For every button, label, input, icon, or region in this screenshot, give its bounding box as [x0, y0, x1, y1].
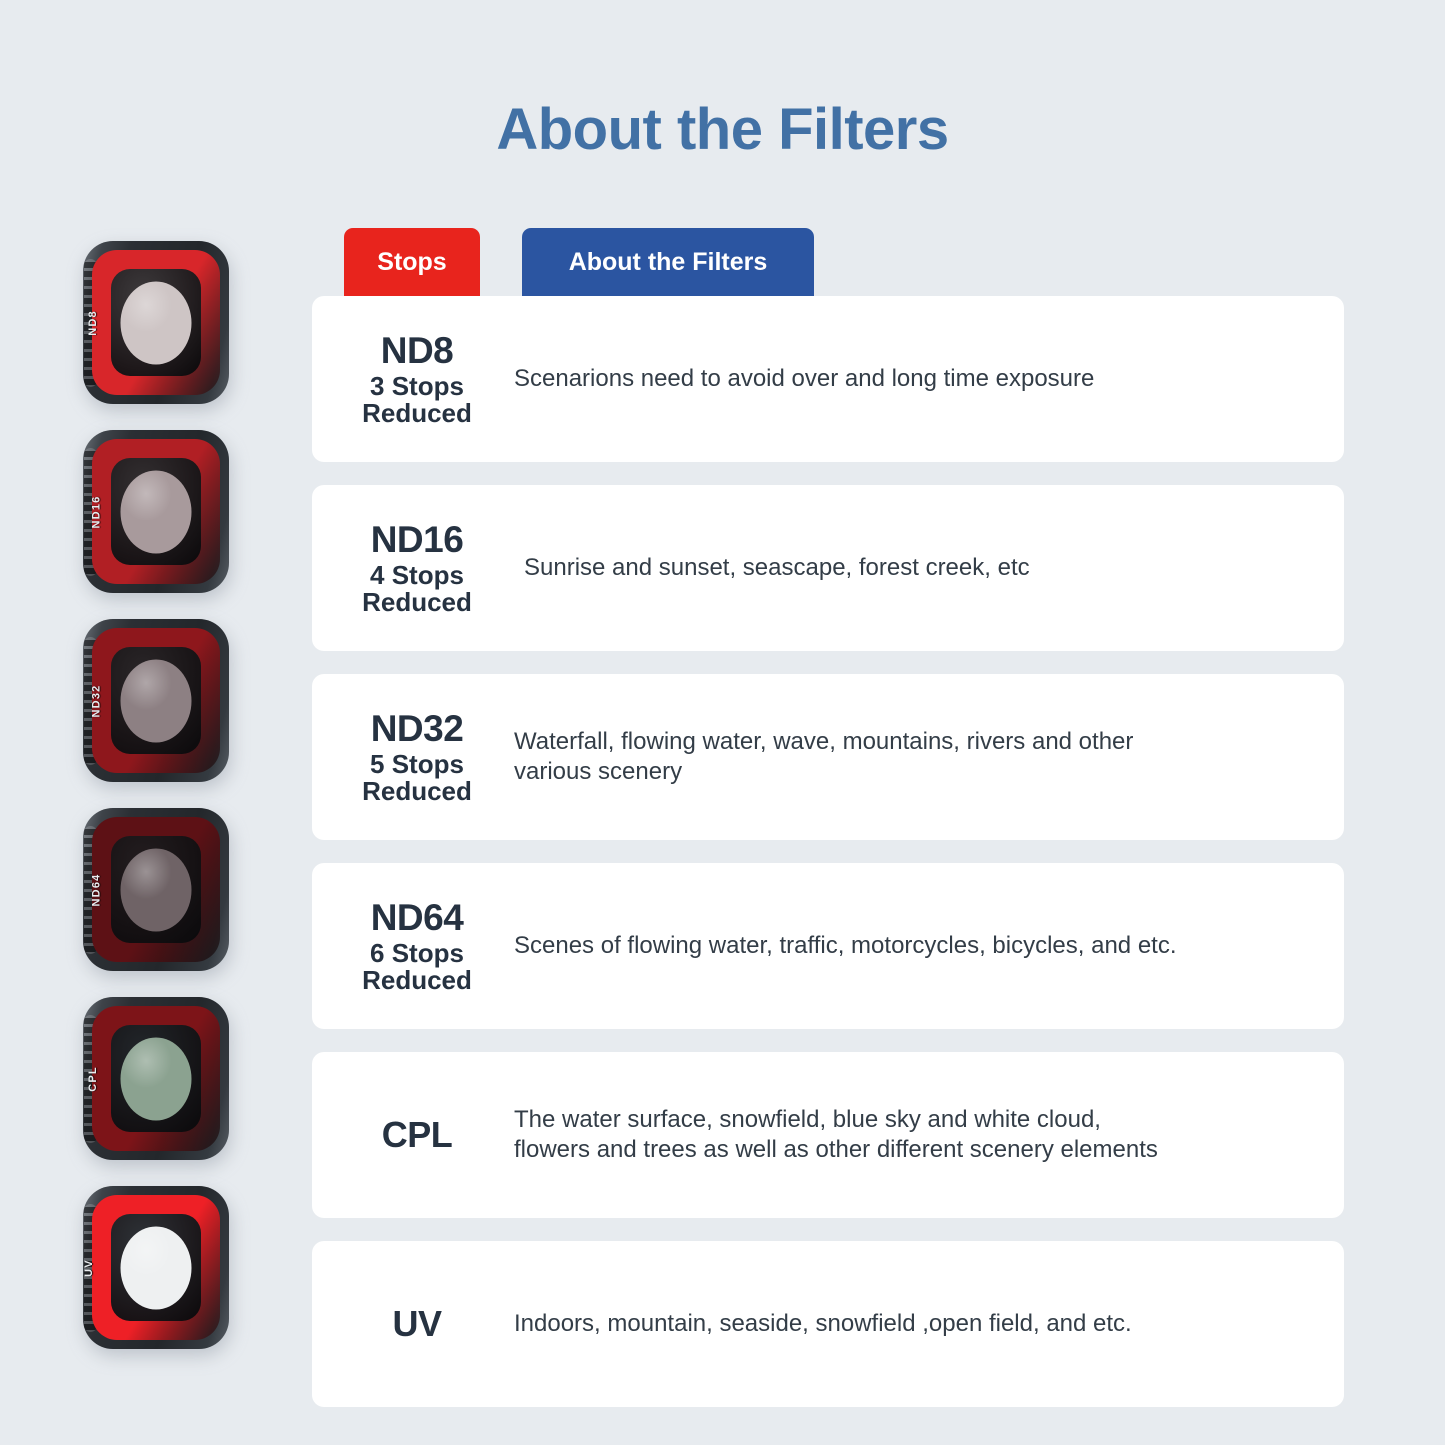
stop-name: UV	[320, 1305, 514, 1343]
filter-product-image: ND16	[83, 430, 229, 593]
stop-cell: UV	[312, 1305, 514, 1343]
stop-reduction-label: 3 Stops Reduced	[320, 373, 514, 426]
filter-description: The water surface, snowfield, blue sky a…	[514, 1105, 1344, 1166]
filter-side-label: UV	[83, 1259, 95, 1277]
filter-glass-element	[121, 659, 192, 742]
stop-name: ND8	[320, 332, 514, 371]
filter-image-slot: ND8	[0, 228, 312, 417]
stop-name: ND32	[320, 710, 514, 749]
filter-image-slot: CPL	[0, 984, 312, 1173]
filter-retaining-ring	[92, 1195, 220, 1340]
table-row: ND325 Stops ReducedWaterfall, flowing wa…	[312, 674, 1344, 840]
column-header-stops[interactable]: Stops	[344, 228, 480, 296]
stop-cell: CPL	[312, 1116, 514, 1154]
filter-product-image: UV	[83, 1186, 229, 1349]
filter-bezel	[111, 269, 201, 376]
filter-image-column: ND8ND16ND32ND64CPLUV	[0, 228, 312, 1362]
filter-image-slot: ND64	[0, 795, 312, 984]
filter-product-image: CPL	[83, 997, 229, 1160]
filter-bezel	[111, 1214, 201, 1321]
table-row: ND646 Stops ReducedScenes of flowing wat…	[312, 863, 1344, 1029]
filter-glass-element	[121, 470, 192, 553]
stop-cell: ND83 Stops Reduced	[312, 332, 514, 427]
table-row: UVIndoors, mountain, seaside, snowfield …	[312, 1241, 1344, 1407]
filter-retaining-ring	[92, 250, 220, 395]
filter-side-label: ND8	[87, 310, 99, 336]
filter-side-label: ND16	[90, 495, 102, 528]
filter-side-label: CPL	[87, 1066, 99, 1092]
filter-glass-element	[121, 1037, 192, 1120]
filter-bezel	[111, 836, 201, 943]
filter-retaining-ring	[92, 1006, 220, 1151]
filter-retaining-ring	[92, 628, 220, 773]
filter-glass-element	[121, 848, 192, 931]
filters-table: Stops About the Filters ND83 Stops Reduc…	[312, 228, 1344, 1407]
stop-reduction-label: 5 Stops Reduced	[320, 751, 514, 804]
filter-description: Waterfall, flowing water, wave, mountain…	[514, 727, 1344, 788]
filter-retaining-ring	[92, 439, 220, 584]
stop-cell: ND325 Stops Reduced	[312, 710, 514, 805]
filter-glass-element	[121, 281, 192, 364]
filter-side-label: ND32	[90, 684, 102, 717]
stop-cell: ND646 Stops Reduced	[312, 899, 514, 994]
filter-description: Scenes of flowing water, traffic, motorc…	[514, 931, 1344, 961]
table-header-tabs: Stops About the Filters	[312, 228, 1344, 296]
stop-name: ND64	[320, 899, 514, 938]
filter-image-slot: ND32	[0, 606, 312, 795]
column-header-about[interactable]: About the Filters	[522, 228, 814, 296]
filter-product-image: ND64	[83, 808, 229, 971]
stop-reduction-label: 4 Stops Reduced	[320, 562, 514, 615]
filter-side-label: ND64	[90, 873, 102, 906]
filter-retaining-ring	[92, 817, 220, 962]
table-row: CPLThe water surface, snowfield, blue sk…	[312, 1052, 1344, 1218]
filter-product-image: ND8	[83, 241, 229, 404]
table-row: ND164 Stops ReducedSunrise and sunset, s…	[312, 485, 1344, 651]
filter-description: Indoors, mountain, seaside, snowfield ,o…	[514, 1309, 1344, 1339]
table-row: ND83 Stops ReducedScenarions need to avo…	[312, 296, 1344, 462]
filter-description: Sunrise and sunset, seascape, forest cre…	[514, 553, 1344, 583]
stop-cell: ND164 Stops Reduced	[312, 521, 514, 616]
page-title: About the Filters	[0, 96, 1445, 163]
filter-image-slot: UV	[0, 1173, 312, 1362]
filter-image-slot: ND16	[0, 417, 312, 606]
filter-description: Scenarions need to avoid over and long t…	[514, 364, 1344, 394]
stop-name: ND16	[320, 521, 514, 560]
stop-name: CPL	[320, 1116, 514, 1154]
filter-bezel	[111, 458, 201, 565]
table-body: ND83 Stops ReducedScenarions need to avo…	[312, 296, 1344, 1407]
filter-bezel	[111, 1025, 201, 1132]
stop-reduction-label: 6 Stops Reduced	[320, 940, 514, 993]
filter-glass-element	[121, 1226, 192, 1309]
filter-product-image: ND32	[83, 619, 229, 782]
filter-bezel	[111, 647, 201, 754]
